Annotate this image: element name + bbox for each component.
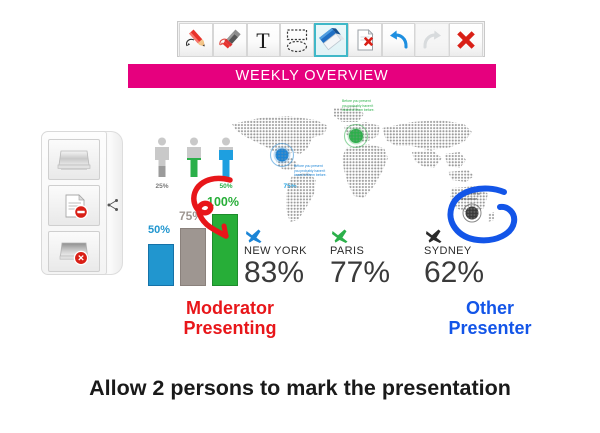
bar-2 — [180, 228, 206, 286]
annotation-toolbar: T — [177, 21, 485, 57]
map-marker-new-york — [271, 144, 294, 167]
city-percent-sydney: 62% — [424, 258, 484, 288]
tool-pen[interactable] — [179, 23, 213, 57]
banner-title: WEEKLY OVERVIEW — [235, 68, 388, 84]
map-callout-paris: Before you present you probably haven't … — [342, 99, 376, 113]
svg-text:T: T — [257, 28, 271, 53]
airplane-icon-sydney — [424, 228, 444, 244]
tool-undo[interactable] — [382, 23, 416, 57]
airplane-icon-new-york — [244, 228, 264, 244]
city-stat-paris: PARIS 77% — [330, 228, 390, 288]
moderator-line-2: Presenting — [183, 318, 276, 338]
tool-clear-page[interactable] — [348, 23, 382, 57]
bar-value-1: 50% — [148, 224, 170, 236]
share-nodes-icon — [106, 198, 120, 212]
person-label-1: 25% — [150, 183, 174, 190]
weekly-overview-banner: WEEKLY OVERVIEW — [128, 64, 496, 88]
map-marker-paris — [345, 125, 368, 148]
city-percent-new-york: 83% — [244, 258, 307, 288]
bar-value-2: 75% — [179, 209, 203, 223]
tool-redo — [415, 23, 449, 57]
moderator-presenting-label: Moderator Presenting — [148, 298, 312, 338]
dotted-world-map: Before you present you probably haven't … — [216, 96, 496, 236]
caption-text: Allow 2 persons to mark the presentation — [0, 376, 600, 401]
tool-shape-select[interactable] — [280, 23, 314, 57]
device-button-document-blocked[interactable] — [48, 185, 100, 226]
device-x-icon — [54, 237, 94, 267]
moderator-line-1: Moderator — [186, 298, 274, 318]
map-marker-sydney — [463, 204, 481, 222]
device-button-disabled[interactable] — [48, 231, 100, 272]
city-stat-sydney: SYDNEY 62% — [424, 228, 484, 288]
device-button-projector[interactable] — [48, 139, 100, 180]
city-percent-paris: 77% — [330, 258, 390, 288]
city-stat-new-york: NEW YORK 83% — [244, 228, 307, 288]
other-presenter-label: Other Presenter — [414, 298, 566, 338]
tool-text[interactable]: T — [247, 23, 281, 57]
other-line-1: Other — [466, 298, 514, 318]
projector-icon — [54, 145, 94, 175]
tool-close[interactable] — [449, 23, 483, 57]
map-callout-new-york: Before you present you probably haven't … — [294, 164, 328, 178]
person-icon-1: 25% — [150, 136, 174, 187]
other-line-2: Presenter — [448, 318, 531, 338]
person-icon-2: 50% — [182, 136, 206, 187]
tool-highlighter[interactable] — [213, 23, 247, 57]
airplane-icon-paris — [330, 228, 350, 244]
presentation-device-panel — [41, 131, 107, 275]
document-no-entry-icon — [54, 191, 94, 221]
bar-1 — [148, 244, 174, 286]
tool-eraser[interactable] — [314, 23, 348, 57]
map-callout-sydney: you haven't of them before. — [459, 192, 487, 201]
